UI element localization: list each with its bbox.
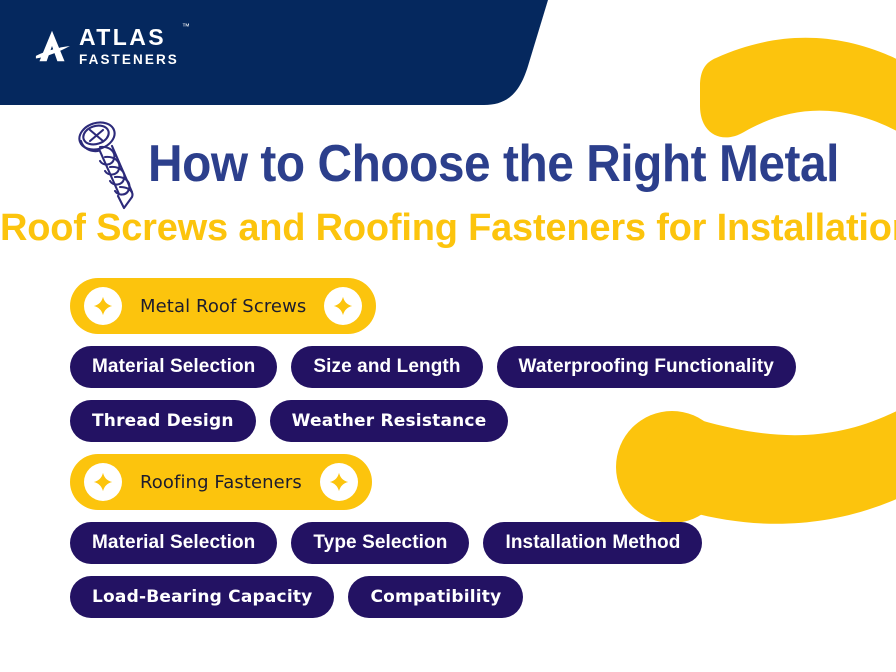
page-title: How to Choose the Right Metal <box>148 134 792 194</box>
topic-pill[interactable]: Thread Design <box>70 400 256 442</box>
topic-pill[interactable]: Type Selection <box>291 522 469 564</box>
infographic-canvas: ATLAS™ FASTENERS How to C <box>0 0 896 672</box>
topic-pill[interactable]: Compatibility <box>348 576 523 618</box>
trademark-symbol: ™ <box>182 23 190 31</box>
topic-pill[interactable]: Size and Length <box>291 346 482 388</box>
atlas-a-swoosh-icon <box>34 29 70 63</box>
topic-row: Thread DesignWeather Resistance <box>70 400 890 442</box>
brand-wordmark: ATLAS™ FASTENERS <box>79 26 179 67</box>
screw-icon <box>72 116 152 212</box>
topic-row: Material SelectionType SelectionInstalla… <box>70 522 890 564</box>
section-header-row: Roofing Fasteners <box>70 454 890 510</box>
section-header-row: Metal Roof Screws <box>70 278 890 334</box>
section-header-label: Metal Roof Screws <box>122 296 324 317</box>
topic-pill[interactable]: Material Selection <box>70 346 277 388</box>
star-x-icon-left[interactable] <box>84 287 122 325</box>
section-header-label: Roofing Fasteners <box>122 472 320 493</box>
header: ATLAS™ FASTENERS <box>0 0 560 110</box>
section-header-pill[interactable]: Roofing Fasteners <box>70 454 372 510</box>
brand-name-bottom: FASTENERS <box>79 53 179 67</box>
star-x-icon-right[interactable] <box>324 287 362 325</box>
topic-pill[interactable]: Weather Resistance <box>270 400 509 442</box>
star-x-icon-right[interactable] <box>320 463 358 501</box>
topic-pill[interactable]: Installation Method <box>483 522 702 564</box>
topic-row: Load-Bearing CapacityCompatibility <box>70 576 890 618</box>
topic-row: Material SelectionSize and LengthWaterpr… <box>70 346 890 388</box>
topic-list: Metal Roof ScrewsMaterial SelectionSize … <box>70 278 890 630</box>
brand-name-top: ATLAS™ <box>79 26 179 49</box>
page-subtitle: Roof Screws and Roofing Fasteners for In… <box>0 204 896 252</box>
section-header-pill[interactable]: Metal Roof Screws <box>70 278 376 334</box>
topic-pill[interactable]: Material Selection <box>70 522 277 564</box>
topic-pill[interactable]: Waterproofing Functionality <box>497 346 796 388</box>
topic-pill[interactable]: Load-Bearing Capacity <box>70 576 334 618</box>
star-x-icon-left[interactable] <box>84 463 122 501</box>
brand-logo[interactable]: ATLAS™ FASTENERS <box>34 26 179 67</box>
